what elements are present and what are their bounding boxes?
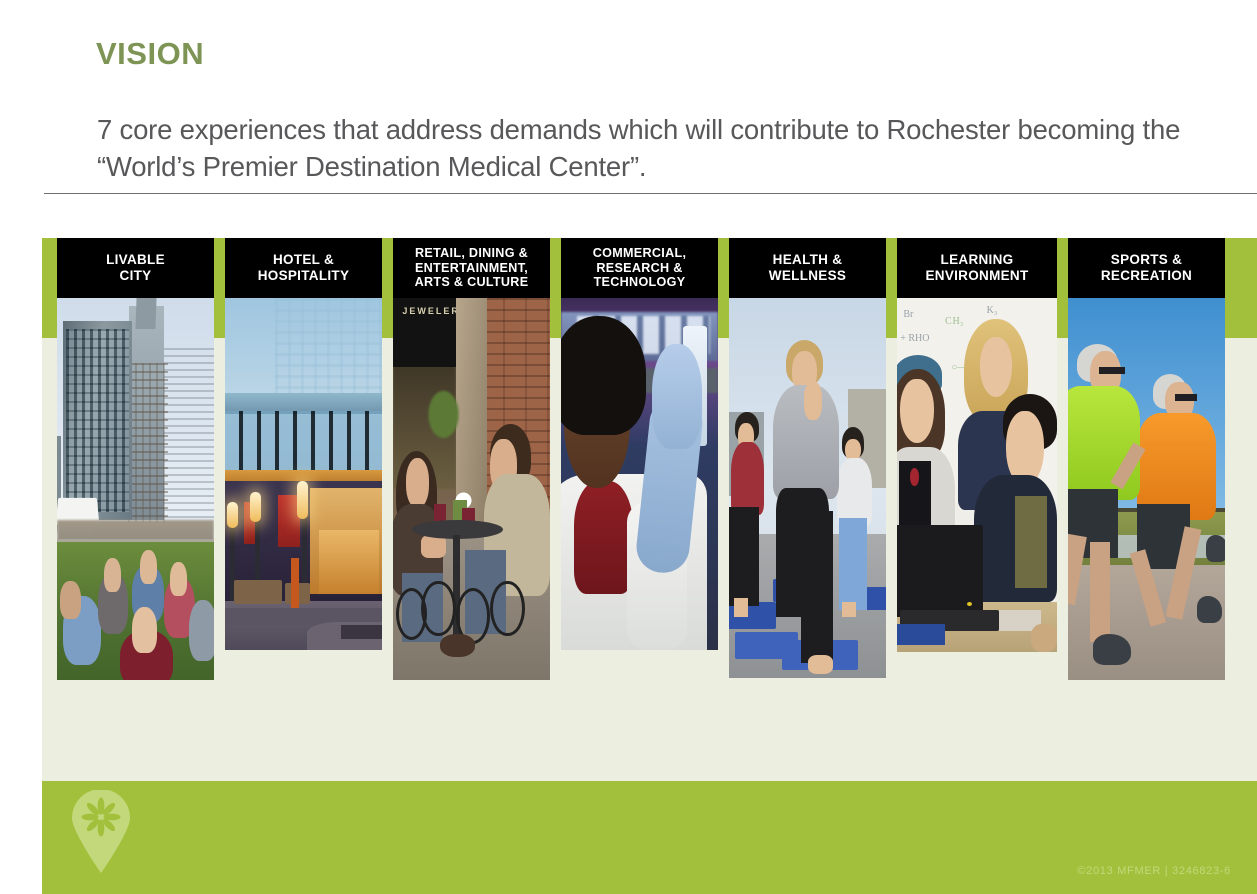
column-label-line: HOTEL &: [273, 252, 334, 267]
column-photo-commercial-research: [561, 298, 718, 650]
column-label-line: ENVIRONMENT: [925, 268, 1028, 283]
column-header-sports-recreation: SPORTS & RECREATION: [1068, 238, 1225, 298]
column-photo-livable-city: [57, 298, 214, 680]
slide-subtitle: 7 core experiences that address demands …: [97, 112, 1212, 185]
column-header-learning-environment: LEARNING ENVIRONMENT: [897, 238, 1057, 298]
column-label-line: SPORTS &: [1111, 252, 1182, 267]
column-label-line: RECREATION: [1101, 268, 1192, 283]
column-photo-sports-recreation: [1068, 298, 1225, 680]
column-label-line: TECHNOLOGY: [594, 275, 686, 289]
column-label-line: ARTS & CULTURE: [415, 275, 529, 289]
vision-columns-panel: LIVABLE CITY: [42, 238, 1257, 781]
column-label-line: HEALTH &: [773, 252, 843, 267]
column-header-health-wellness: HEALTH & WELLNESS: [729, 238, 886, 298]
column-photo-retail-dining: JEWELER: [393, 298, 550, 680]
experience-column-health-wellness[interactable]: HEALTH & WELLNESS: [729, 238, 886, 678]
column-label-line: LEARNING: [941, 252, 1014, 267]
column-photo-health-wellness: [729, 298, 886, 678]
experience-column-sports-recreation[interactable]: SPORTS & RECREATION: [1068, 238, 1225, 680]
column-label-line: ENTERTAINMENT,: [415, 261, 528, 275]
column-photo-hotel-hospitality: [225, 298, 382, 650]
column-header-commercial-research: COMMERCIAL, RESEARCH & TECHNOLOGY: [561, 238, 718, 298]
header-divider: [44, 193, 1257, 194]
experience-column-commercial-research[interactable]: COMMERCIAL, RESEARCH & TECHNOLOGY: [561, 238, 718, 650]
column-label-line: HOSPITALITY: [258, 268, 350, 283]
experience-columns: LIVABLE CITY: [42, 238, 1257, 781]
page-title: VISION: [96, 38, 204, 71]
mayo-clinic-pin-logo: [70, 790, 132, 874]
experience-column-learning-environment[interactable]: LEARNING ENVIRONMENT Br + RHO C H₃ ○—○ K…: [897, 238, 1057, 652]
column-label-line: RETAIL, DINING &: [415, 246, 528, 260]
column-label-line: LIVABLE: [106, 252, 165, 267]
column-label-line: CITY: [120, 268, 152, 283]
experience-column-livable-city[interactable]: LIVABLE CITY: [57, 238, 214, 680]
copyright-text: ©2013 MFMER | 3246823-6: [1077, 865, 1231, 877]
column-photo-learning-environment: Br + RHO C H₃ ○—○ K₃: [897, 298, 1057, 652]
experience-column-hotel-hospitality[interactable]: HOTEL & HOSPITALITY: [225, 238, 382, 650]
column-header-livable-city: LIVABLE CITY: [57, 238, 214, 298]
experience-column-retail-dining[interactable]: RETAIL, DINING & ENTERTAINMENT, ARTS & C…: [393, 238, 550, 680]
column-label-line: WELLNESS: [769, 268, 846, 283]
column-header-hotel-hospitality: HOTEL & HOSPITALITY: [225, 238, 382, 298]
footer-band: ©2013 MFMER | 3246823-6: [42, 781, 1257, 894]
column-header-retail-dining: RETAIL, DINING & ENTERTAINMENT, ARTS & C…: [393, 238, 550, 298]
column-label-line: RESEARCH &: [596, 261, 682, 275]
column-label-line: COMMERCIAL,: [593, 246, 687, 260]
